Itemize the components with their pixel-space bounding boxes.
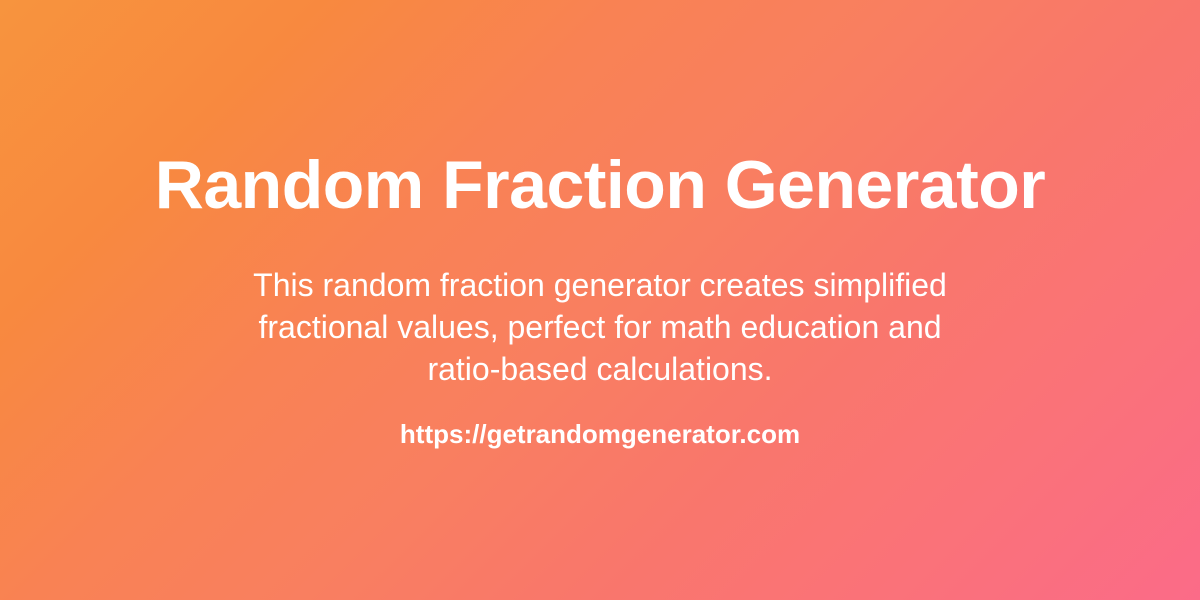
page-title: Random Fraction Generator	[0, 146, 1200, 224]
description-line-2: fractional values, perfect for math educ…	[0, 306, 1200, 348]
promo-banner: Random Fraction Generator This random fr…	[0, 0, 1200, 600]
site-url[interactable]: https://getrandomgenerator.com	[0, 417, 1200, 451]
page-description: This random fraction generator creates s…	[0, 264, 1200, 390]
description-line-1: This random fraction generator creates s…	[0, 264, 1200, 306]
description-line-3: ratio-based calculations.	[0, 348, 1200, 390]
